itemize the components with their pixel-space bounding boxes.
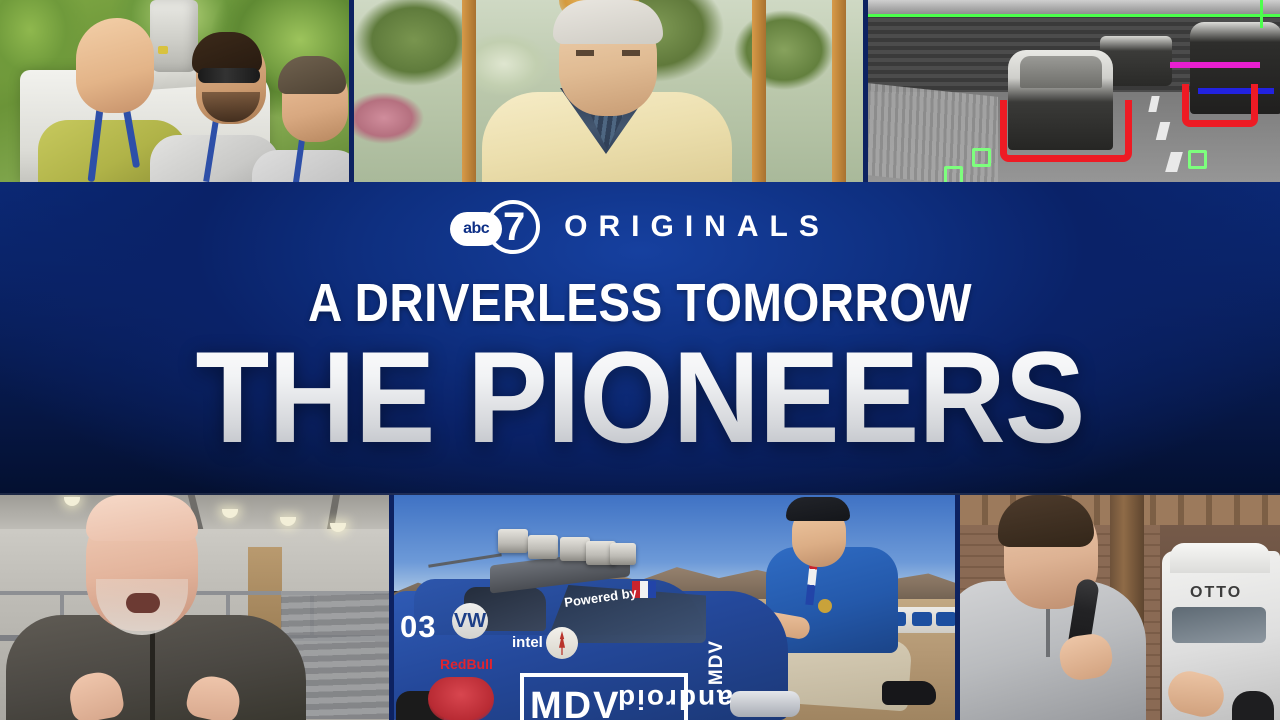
intel-logo-decal: intel	[512, 635, 543, 650]
photo-vintage-computer-vision-footage	[868, 0, 1280, 182]
otto-brand-text: OTTO	[1190, 585, 1242, 601]
truck-wheel	[1232, 691, 1274, 720]
android-decal: android	[616, 685, 733, 713]
detection-box	[1182, 84, 1258, 127]
elder-eyes	[576, 50, 640, 56]
roof-lidar-unit	[498, 529, 528, 553]
ground-marker-icon	[944, 166, 963, 182]
vertical-detection-line	[1260, 0, 1263, 28]
headlight	[730, 691, 800, 717]
mdv-decal: MDV	[530, 687, 620, 720]
ground-marker-icon	[972, 148, 991, 167]
horizon-detection-line	[868, 14, 1280, 17]
mdv-side-decal: MDV	[707, 640, 726, 685]
ground-marker-icon	[1188, 150, 1207, 169]
researcher-scalp	[86, 495, 198, 541]
abc7-originals-logo: 7 abc ORIGINALS	[0, 200, 1280, 254]
magenta-tracking-line	[1170, 62, 1260, 68]
car-number-decal: 03	[400, 611, 436, 642]
person-shoe	[882, 681, 936, 705]
truck-roof-sensor-pod	[1170, 543, 1270, 573]
redbull-decal: RedBull	[440, 657, 493, 671]
barrier-logo	[936, 612, 955, 626]
barrier-logo	[912, 612, 932, 626]
medal	[818, 599, 832, 613]
detected-car-window	[1020, 56, 1102, 88]
lidar-sensor	[150, 0, 198, 72]
series-subtitle: A DRIVERLESS TOMORROW	[77, 276, 1203, 330]
photo-bearded-researcher-interview	[0, 495, 389, 720]
researcher-mouth	[126, 593, 160, 613]
bottom-photo-row: 03 VW intel RedBull Powered by MDV MDV a…	[0, 495, 1280, 720]
stanford-tree-logo	[546, 627, 578, 659]
baseball-cap	[786, 497, 850, 521]
speaker-hair	[998, 495, 1094, 547]
window-frame-far-right	[832, 0, 846, 182]
roof-lidar-unit	[528, 535, 558, 559]
roof-lidar-unit	[610, 543, 636, 565]
video-thumbnail: 7 abc ORIGINALS A DRIVERLESS TOMORROW TH…	[0, 0, 1280, 720]
person-one-hair	[72, 10, 148, 58]
zipper	[150, 623, 155, 720]
photo-otto-founder-with-microphone: OTTO	[960, 495, 1280, 720]
title-banner: 7 abc ORIGINALS A DRIVERLESS TOMORROW TH…	[0, 182, 1280, 495]
abc-wordmark: abc	[450, 212, 502, 246]
originals-wordmark: ORIGINALS	[564, 212, 830, 242]
sunglasses	[198, 68, 260, 83]
redbull-bull-icon	[428, 677, 494, 720]
truck-windshield	[1172, 607, 1266, 643]
abc7-logo-icon: 7 abc	[450, 200, 546, 254]
window-frame-right	[752, 0, 766, 182]
photo-darpa-challenge-race-car: 03 VW intel RedBull Powered by MDV MDV a…	[394, 495, 955, 720]
footage-sky	[868, 0, 1280, 14]
elder-hair	[553, 0, 663, 44]
detection-box	[1000, 100, 1132, 162]
top-photo-row	[0, 0, 1280, 182]
series-title: THE PIONEERS	[45, 332, 1235, 462]
photo-elderly-inventor-interview	[354, 0, 863, 182]
window-frame-left	[462, 0, 476, 182]
photo-three-engineers-outdoors	[0, 0, 349, 182]
person-three-hair	[278, 56, 346, 94]
vw-logo-decal: VW	[452, 603, 488, 639]
road-shoulder	[868, 83, 998, 182]
